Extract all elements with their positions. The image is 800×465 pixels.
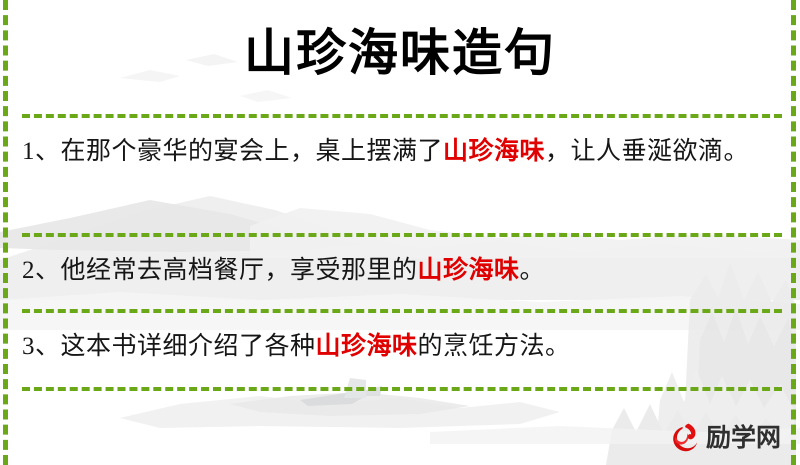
sentence-text-before: 在那个豪华的宴会上，桌上摆满了 [61, 138, 444, 165]
site-logo[interactable]: 励学网 [668, 420, 781, 456]
divider-2 [22, 233, 782, 237]
sentence-text-after: ，让人垂涎欲滴。 [545, 138, 749, 165]
divider-1 [22, 114, 782, 118]
sentence-index: 3、 [22, 333, 61, 360]
sentence-worksheet-page: 山珍海味造句 1、在那个豪华的宴会上，桌上摆满了山珍海味，让人垂涎欲滴。 2、他… [0, 0, 800, 465]
sentence-text-before: 他经常去高档餐厅，享受那里的 [61, 257, 418, 284]
list-item: 3、这本书详细介绍了各种山珍海味的烹饪方法。 [22, 324, 770, 369]
idiom-highlight: 山珍海味 [316, 333, 418, 360]
sentence-text-after: 的烹饪方法。 [418, 333, 571, 360]
divider-4 [22, 387, 782, 391]
list-item: 1、在那个豪华的宴会上，桌上摆满了山珍海味，让人垂涎欲滴。 [22, 129, 770, 174]
flame-swirl-icon [668, 421, 702, 455]
sentence-index: 2、 [22, 257, 61, 284]
page-title: 山珍海味造句 [0, 22, 800, 84]
sentence-index: 1、 [22, 138, 61, 165]
sentence-text-after: 。 [520, 257, 546, 284]
sentence-text-before: 这本书详细介绍了各种 [61, 333, 316, 360]
idiom-highlight: 山珍海味 [418, 257, 520, 284]
logo-text: 励学网 [706, 426, 781, 451]
divider-3 [22, 309, 782, 313]
idiom-highlight: 山珍海味 [443, 138, 545, 165]
list-item: 2、他经常去高档餐厅，享受那里的山珍海味。 [22, 248, 770, 293]
